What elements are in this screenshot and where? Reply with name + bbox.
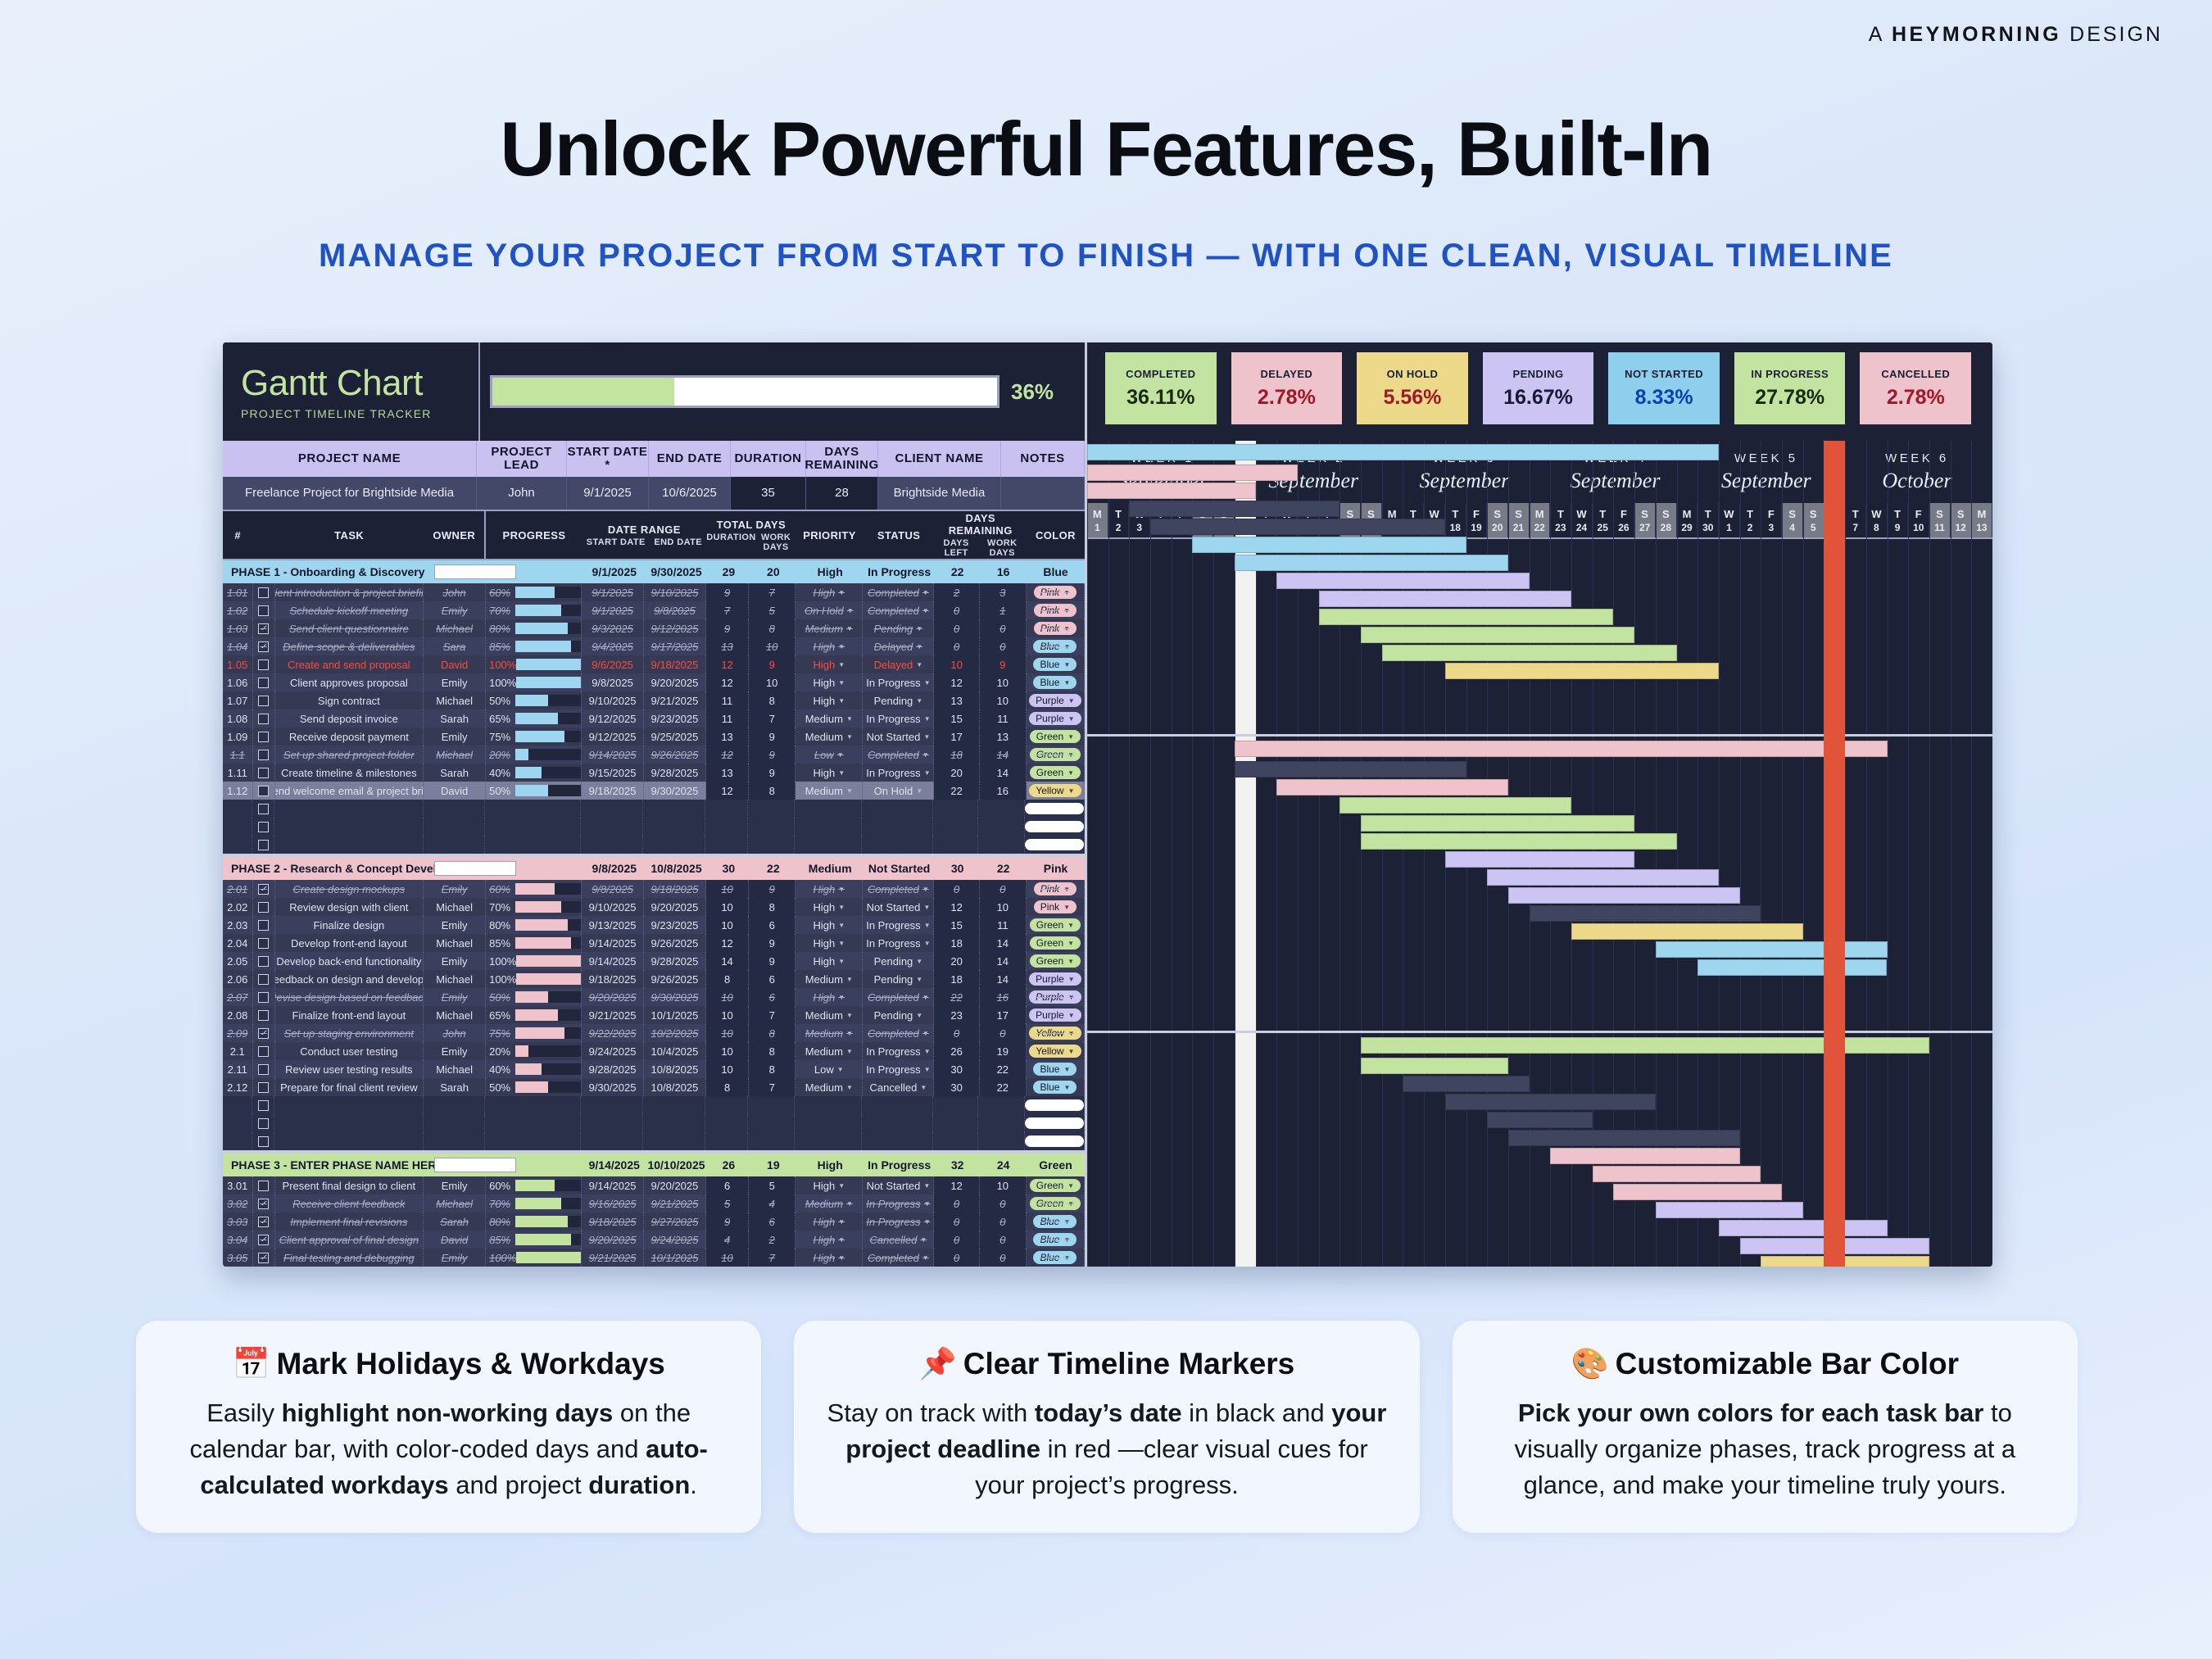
chevron-down-icon[interactable]: ▼ [838, 697, 845, 705]
chevron-down-icon[interactable]: ▼ [846, 1030, 853, 1037]
checkbox-icon[interactable]: ✓ [258, 641, 269, 652]
task-color[interactable]: Yellow▼ [1027, 1042, 1085, 1060]
empty-cell[interactable] [252, 1096, 274, 1114]
chevron-down-icon[interactable]: ▼ [1063, 661, 1070, 669]
empty-cell[interactable] [978, 800, 1025, 818]
task-color[interactable]: Blue▼ [1027, 1231, 1085, 1249]
task-checkbox[interactable] [253, 601, 275, 619]
task-color[interactable]: Green▼ [1027, 916, 1085, 934]
task-color-pill[interactable]: Green▼ [1030, 954, 1081, 968]
chevron-down-icon[interactable]: ▼ [1063, 1066, 1070, 1073]
task-row[interactable]: 1.12Send welcome email & project briefDa… [223, 782, 1085, 800]
task-status[interactable]: Completed▼ [863, 1024, 934, 1042]
task-color[interactable]: Pink▼ [1027, 601, 1085, 619]
task-priority[interactable]: High▼ [796, 1249, 863, 1267]
chevron-down-icon[interactable]: ▼ [916, 976, 922, 983]
task-checkbox[interactable] [253, 934, 275, 952]
empty-cell[interactable] [581, 1132, 643, 1150]
checkbox-icon[interactable] [258, 992, 269, 1003]
chevron-down-icon[interactable]: ▼ [838, 769, 845, 777]
chevron-down-icon[interactable]: ▼ [1063, 607, 1070, 614]
empty-cell[interactable] [795, 1096, 862, 1114]
empty-cell[interactable] [795, 1114, 862, 1132]
chevron-down-icon[interactable]: ▼ [1063, 643, 1070, 650]
checkbox-icon[interactable]: ✓ [258, 623, 269, 634]
task-checkbox[interactable]: ✓ [253, 1213, 275, 1231]
chevron-down-icon[interactable]: ▼ [1068, 697, 1075, 705]
task-progress[interactable]: 50% [486, 782, 582, 800]
empty-cell[interactable] [933, 1132, 978, 1150]
task-checkbox[interactable]: ✓ [253, 1231, 275, 1249]
task-color-pill[interactable]: Blue▼ [1033, 1251, 1077, 1264]
empty-cell[interactable] [1025, 818, 1085, 836]
task-color-pill[interactable]: Green▼ [1030, 1179, 1081, 1192]
task-color[interactable]: Green▼ [1027, 728, 1085, 746]
empty-cell[interactable] [581, 1096, 643, 1114]
task-progress[interactable]: 75% [486, 728, 582, 746]
chevron-down-icon[interactable]: ▼ [924, 1218, 931, 1226]
chevron-down-icon[interactable]: ▼ [838, 922, 845, 929]
task-color-pill[interactable]: Pink▼ [1034, 900, 1077, 913]
chevron-down-icon[interactable]: ▼ [1067, 769, 1074, 777]
task-checkbox[interactable]: ✓ [253, 880, 275, 898]
empty-cell[interactable] [252, 1114, 274, 1132]
task-priority[interactable]: Medium▼ [796, 728, 863, 746]
checkbox-icon[interactable] [258, 1136, 269, 1147]
task-progress[interactable]: 50% [486, 1078, 582, 1096]
task-checkbox[interactable] [253, 728, 275, 746]
task-color-pill[interactable]: Purple▼ [1029, 694, 1081, 707]
empty-cell[interactable] [274, 836, 423, 854]
task-color-pill[interactable]: Blue▼ [1033, 640, 1077, 653]
chevron-down-icon[interactable]: ▼ [1068, 787, 1075, 795]
task-row[interactable]: 2.04Develop front-end layoutMichael85%9/… [223, 934, 1085, 952]
chevron-down-icon[interactable]: ▼ [924, 715, 931, 723]
checkbox-icon[interactable] [258, 804, 269, 814]
task-checkbox[interactable]: ✓ [253, 1024, 275, 1042]
task-color[interactable]: Green▼ [1027, 746, 1085, 764]
task-priority[interactable]: Medium▼ [796, 1006, 863, 1024]
task-status[interactable]: Completed▼ [863, 601, 934, 619]
task-progress[interactable]: 70% [486, 1194, 582, 1213]
task-row[interactable]: 1.09Receive deposit paymentEmily75%9/12/… [223, 728, 1085, 746]
task-progress[interactable]: 50% [486, 691, 582, 709]
chevron-down-icon[interactable]: ▼ [920, 1084, 927, 1091]
empty-cell[interactable] [581, 1114, 643, 1132]
task-status[interactable]: In Progress▼ [863, 1194, 934, 1213]
chevron-down-icon[interactable]: ▼ [916, 787, 922, 795]
chevron-down-icon[interactable]: ▼ [837, 1066, 844, 1073]
task-row[interactable]: 1.05Create and send proposalDavid100%9/6… [223, 655, 1085, 673]
chevron-down-icon[interactable]: ▼ [924, 769, 931, 777]
task-row[interactable]: 3.01Present final design to clientEmily6… [223, 1176, 1085, 1194]
task-color[interactable]: Blue▼ [1027, 637, 1085, 655]
chevron-down-icon[interactable]: ▼ [1068, 715, 1075, 723]
empty-cell[interactable] [795, 836, 862, 854]
empty-cell[interactable] [1025, 1114, 1085, 1132]
task-checkbox[interactable] [253, 655, 275, 673]
task-progress[interactable]: 100% [486, 673, 582, 691]
task-status[interactable]: Cancelled▼ [863, 1231, 934, 1249]
task-color-pill[interactable]: Blue▼ [1033, 1215, 1077, 1228]
checkbox-icon[interactable] [258, 732, 269, 742]
chevron-down-icon[interactable]: ▼ [1067, 958, 1074, 965]
empty-cell[interactable] [748, 1114, 795, 1132]
empty-cell[interactable] [223, 1096, 252, 1114]
checkbox-icon[interactable] [258, 974, 269, 985]
task-checkbox[interactable] [253, 1006, 275, 1024]
empty-cell[interactable] [862, 800, 933, 818]
chevron-down-icon[interactable]: ▼ [922, 751, 929, 759]
empty-cell[interactable] [643, 1096, 705, 1114]
task-color-pill[interactable] [1025, 821, 1084, 832]
empty-cell[interactable] [485, 1114, 581, 1132]
task-progress[interactable]: 80% [486, 1213, 582, 1231]
empty-cell[interactable] [705, 800, 748, 818]
chevron-down-icon[interactable]: ▼ [846, 1200, 853, 1208]
task-color[interactable]: Purple▼ [1027, 1006, 1085, 1024]
chevron-down-icon[interactable]: ▼ [838, 1218, 845, 1226]
task-color-pill[interactable]: Green▼ [1030, 1197, 1081, 1210]
checkbox-icon[interactable] [258, 696, 269, 706]
empty-cell[interactable] [581, 818, 643, 836]
checkbox-icon[interactable] [258, 605, 269, 616]
checkbox-icon[interactable]: ✓ [258, 1217, 269, 1227]
task-status[interactable]: Pending▼ [863, 619, 934, 637]
empty-cell[interactable] [424, 800, 486, 818]
checkbox-icon[interactable] [258, 938, 269, 949]
chevron-down-icon[interactable]: ▼ [1068, 1012, 1075, 1019]
task-progress[interactable]: 80% [486, 619, 582, 637]
empty-cell[interactable] [424, 836, 486, 854]
task-row[interactable]: 3.03✓Implement final revisionsSarah80%9/… [223, 1213, 1085, 1231]
task-row[interactable]: 2.05Develop back-end functionalityEmily1… [223, 952, 1085, 970]
task-progress[interactable]: 65% [486, 1006, 582, 1024]
empty-cell[interactable] [1025, 1132, 1085, 1150]
task-priority[interactable]: High▼ [796, 898, 863, 916]
chevron-down-icon[interactable]: ▼ [838, 1254, 845, 1262]
checkbox-icon[interactable] [258, 786, 269, 796]
task-priority[interactable]: High▼ [796, 673, 863, 691]
empty-task-row[interactable] [223, 1114, 1085, 1132]
task-status[interactable]: Not Started▼ [863, 898, 934, 916]
chevron-down-icon[interactable]: ▼ [916, 643, 922, 650]
task-priority[interactable]: Medium▼ [796, 1078, 863, 1096]
task-status[interactable]: Pending▼ [863, 952, 934, 970]
task-checkbox[interactable] [253, 916, 275, 934]
task-color-pill[interactable]: Blue▼ [1033, 676, 1077, 689]
task-progress[interactable]: 60% [486, 880, 582, 898]
empty-cell[interactable] [643, 836, 705, 854]
task-priority[interactable]: High▼ [796, 952, 863, 970]
chevron-down-icon[interactable]: ▼ [838, 940, 845, 947]
empty-cell[interactable] [424, 1096, 486, 1114]
checkbox-icon[interactable] [258, 840, 269, 850]
empty-cell[interactable] [1025, 1096, 1085, 1114]
task-priority[interactable]: High▼ [796, 637, 863, 655]
task-row[interactable]: 2.1Conduct user testingEmily20%9/24/2025… [223, 1042, 1085, 1060]
empty-cell[interactable] [862, 836, 933, 854]
empty-cell[interactable] [705, 836, 748, 854]
empty-cell[interactable] [252, 818, 274, 836]
task-color[interactable]: Purple▼ [1027, 691, 1085, 709]
empty-cell[interactable] [485, 818, 581, 836]
empty-cell[interactable] [1025, 800, 1085, 818]
task-priority[interactable]: On Hold▼ [796, 601, 863, 619]
task-row[interactable]: 1.02Schedule kickoff meetingEmily70%9/1/… [223, 601, 1085, 619]
chevron-down-icon[interactable]: ▼ [838, 661, 845, 669]
chevron-down-icon[interactable]: ▼ [1067, 922, 1074, 929]
task-status[interactable]: Completed▼ [863, 746, 934, 764]
chevron-down-icon[interactable]: ▼ [1067, 733, 1074, 741]
task-checkbox[interactable] [253, 583, 275, 601]
empty-task-row[interactable] [223, 1132, 1085, 1150]
empty-cell[interactable] [862, 1114, 933, 1132]
task-status[interactable]: Cancelled▼ [863, 1078, 934, 1096]
task-row[interactable]: 1.08Send deposit invoiceSarah65%9/12/202… [223, 709, 1085, 728]
empty-cell[interactable] [485, 1096, 581, 1114]
chevron-down-icon[interactable]: ▼ [1067, 940, 1074, 947]
task-priority[interactable]: Medium▼ [796, 970, 863, 988]
empty-task-row[interactable] [223, 836, 1085, 854]
task-status[interactable]: In Progress▼ [863, 1213, 934, 1231]
task-progress[interactable]: 100% [486, 970, 582, 988]
task-color-pill[interactable]: Blue▼ [1033, 1233, 1077, 1246]
chevron-down-icon[interactable]: ▼ [922, 589, 929, 596]
task-color-pill[interactable]: Blue▼ [1033, 658, 1077, 671]
empty-cell[interactable] [252, 836, 274, 854]
chevron-down-icon[interactable]: ▼ [1063, 886, 1070, 893]
task-priority[interactable]: High▼ [796, 583, 863, 601]
task-color[interactable]: Blue▼ [1027, 673, 1085, 691]
chevron-down-icon[interactable]: ▼ [1063, 1218, 1070, 1226]
task-color-pill[interactable]: Green▼ [1030, 748, 1081, 761]
task-color-pill[interactable]: Blue▼ [1033, 1063, 1077, 1076]
chevron-down-icon[interactable]: ▼ [846, 715, 853, 723]
chevron-down-icon[interactable]: ▼ [924, 1048, 931, 1055]
chevron-down-icon[interactable]: ▼ [1067, 1200, 1074, 1208]
task-progress[interactable]: 70% [486, 898, 582, 916]
empty-cell[interactable] [748, 836, 795, 854]
chevron-down-icon[interactable]: ▼ [922, 607, 929, 614]
task-progress[interactable]: 85% [486, 1231, 582, 1249]
chevron-down-icon[interactable]: ▼ [838, 994, 845, 1001]
empty-cell[interactable] [274, 1132, 423, 1150]
chevron-down-icon[interactable]: ▼ [838, 886, 845, 893]
checkbox-icon[interactable] [258, 956, 269, 967]
task-color-pill[interactable]: Purple▼ [1029, 1009, 1081, 1022]
chevron-down-icon[interactable]: ▼ [1068, 1030, 1075, 1037]
empty-cell[interactable] [424, 818, 486, 836]
task-color[interactable]: Blue▼ [1027, 1060, 1085, 1078]
chevron-down-icon[interactable]: ▼ [916, 625, 922, 632]
empty-cell[interactable] [274, 1096, 423, 1114]
checkbox-icon[interactable] [258, 1046, 269, 1057]
checkbox-icon[interactable] [258, 822, 269, 832]
checkbox-icon[interactable]: ✓ [258, 1253, 269, 1263]
chevron-down-icon[interactable]: ▼ [846, 733, 853, 741]
task-color-pill[interactable]: Green▼ [1030, 730, 1081, 743]
task-priority[interactable]: Medium▼ [796, 709, 863, 728]
checkbox-icon[interactable] [258, 1082, 269, 1093]
task-color-pill[interactable] [1025, 839, 1084, 850]
task-row[interactable]: 2.03Finalize designEmily80%9/13/20259/23… [223, 916, 1085, 934]
task-priority[interactable]: High▼ [796, 691, 863, 709]
task-priority[interactable]: High▼ [796, 880, 863, 898]
task-priority[interactable]: High▼ [796, 988, 863, 1006]
task-progress[interactable]: 85% [486, 934, 582, 952]
task-color[interactable]: Yellow▼ [1027, 782, 1085, 800]
checkbox-icon[interactable] [258, 587, 269, 598]
empty-cell[interactable] [643, 818, 705, 836]
chevron-down-icon[interactable]: ▼ [846, 976, 853, 983]
task-checkbox[interactable] [253, 970, 275, 988]
task-progress[interactable]: 75% [486, 1024, 582, 1042]
task-color-pill[interactable] [1025, 1135, 1084, 1147]
task-row[interactable]: 2.08Finalize front-end layoutMichael65%9… [223, 1006, 1085, 1024]
empty-task-row[interactable] [223, 800, 1085, 818]
empty-cell[interactable] [705, 1114, 748, 1132]
empty-cell[interactable] [862, 1132, 933, 1150]
empty-cell[interactable] [933, 1096, 978, 1114]
task-progress[interactable]: 60% [486, 583, 582, 601]
task-progress[interactable]: 70% [486, 601, 582, 619]
chevron-down-icon[interactable]: ▼ [924, 679, 931, 687]
task-row[interactable]: 1.07Sign contractMichael50%9/10/20259/21… [223, 691, 1085, 709]
task-progress[interactable]: 65% [486, 709, 582, 728]
empty-cell[interactable] [748, 1096, 795, 1114]
empty-cell[interactable] [862, 1096, 933, 1114]
empty-cell[interactable] [933, 1114, 978, 1132]
checkbox-icon[interactable] [258, 768, 269, 778]
task-priority[interactable]: Medium▼ [796, 1042, 863, 1060]
task-status[interactable]: Not Started▼ [863, 728, 934, 746]
task-checkbox[interactable] [253, 1042, 275, 1060]
task-status[interactable]: Completed▼ [863, 583, 934, 601]
chevron-down-icon[interactable]: ▼ [922, 1254, 929, 1262]
task-status[interactable]: Pending▼ [863, 691, 934, 709]
task-color[interactable]: Pink▼ [1027, 880, 1085, 898]
task-priority[interactable]: Medium▼ [796, 1194, 863, 1213]
task-color[interactable]: Pink▼ [1027, 583, 1085, 601]
chevron-down-icon[interactable]: ▼ [1068, 994, 1075, 1001]
checkbox-icon[interactable] [258, 1118, 269, 1129]
task-color-pill[interactable] [1025, 1099, 1084, 1111]
empty-cell[interactable] [223, 836, 252, 854]
task-status[interactable]: Delayed▼ [863, 655, 934, 673]
empty-cell[interactable] [933, 836, 978, 854]
task-color[interactable]: Pink▼ [1027, 619, 1085, 637]
chevron-down-icon[interactable]: ▼ [1063, 679, 1070, 687]
empty-cell[interactable] [862, 818, 933, 836]
task-row[interactable]: 2.12Prepare for final client reviewSarah… [223, 1078, 1085, 1096]
task-row[interactable]: 3.02✓Receive client feedbackMichael70%9/… [223, 1194, 1085, 1213]
chevron-down-icon[interactable]: ▼ [1063, 589, 1070, 596]
task-color-pill[interactable]: Pink▼ [1034, 604, 1077, 617]
task-priority[interactable]: High▼ [796, 764, 863, 782]
task-checkbox[interactable]: ✓ [253, 1194, 275, 1213]
chevron-down-icon[interactable]: ▼ [838, 679, 845, 687]
task-status[interactable]: In Progress▼ [863, 764, 934, 782]
task-color-pill[interactable]: Pink▼ [1034, 586, 1077, 599]
empty-cell[interactable] [748, 800, 795, 818]
task-checkbox[interactable] [253, 764, 275, 782]
task-row[interactable]: 1.01Client introduction & project briefi… [223, 583, 1085, 601]
chevron-down-icon[interactable]: ▼ [1063, 1084, 1070, 1091]
empty-task-row[interactable] [223, 818, 1085, 836]
checkbox-icon[interactable]: ✓ [258, 884, 269, 895]
empty-cell[interactable] [978, 836, 1025, 854]
task-checkbox[interactable] [253, 746, 275, 764]
task-priority[interactable]: High▼ [796, 1176, 863, 1194]
chevron-down-icon[interactable]: ▼ [837, 751, 844, 759]
task-row[interactable]: 1.04✓Define scope & deliverablesSara85%9… [223, 637, 1085, 655]
task-priority[interactable]: Medium▼ [796, 1024, 863, 1042]
task-color[interactable]: Blue▼ [1027, 655, 1085, 673]
task-status[interactable]: In Progress▼ [863, 916, 934, 934]
chevron-down-icon[interactable]: ▼ [846, 1012, 853, 1019]
task-checkbox[interactable]: ✓ [253, 619, 275, 637]
chevron-down-icon[interactable]: ▼ [838, 958, 845, 965]
chevron-down-icon[interactable]: ▼ [846, 625, 853, 632]
empty-cell[interactable] [978, 1096, 1025, 1114]
chevron-down-icon[interactable]: ▼ [1063, 904, 1070, 911]
empty-cell[interactable] [795, 1132, 862, 1150]
task-color-pill[interactable]: Pink▼ [1034, 622, 1077, 635]
task-color[interactable]: Purple▼ [1027, 988, 1085, 1006]
empty-cell[interactable] [748, 818, 795, 836]
empty-cell[interactable] [978, 1132, 1025, 1150]
empty-cell[interactable] [795, 818, 862, 836]
checkbox-icon[interactable] [258, 1010, 269, 1021]
task-row[interactable]: 1.11Create timeline & milestonesSarah40%… [223, 764, 1085, 782]
task-progress[interactable]: 20% [486, 746, 582, 764]
task-status[interactable]: Completed▼ [863, 880, 934, 898]
empty-cell[interactable] [274, 818, 423, 836]
task-row[interactable]: 2.06Get feedback on design and developme… [223, 970, 1085, 988]
task-color[interactable]: Green▼ [1027, 1194, 1085, 1213]
task-status[interactable]: Pending▼ [863, 970, 934, 988]
chevron-down-icon[interactable]: ▼ [922, 886, 929, 893]
chevron-down-icon[interactable]: ▼ [1067, 751, 1074, 759]
task-checkbox[interactable]: ✓ [253, 1249, 275, 1267]
task-priority[interactable]: Low▼ [796, 1060, 863, 1078]
checkbox-icon[interactable] [258, 678, 269, 688]
task-priority[interactable]: High▼ [796, 655, 863, 673]
chevron-down-icon[interactable]: ▼ [922, 994, 929, 1001]
empty-cell[interactable] [274, 800, 423, 818]
checkbox-icon[interactable] [258, 750, 269, 760]
task-status[interactable]: In Progress▼ [863, 934, 934, 952]
task-color[interactable]: Purple▼ [1027, 709, 1085, 728]
chevron-down-icon[interactable]: ▼ [916, 697, 922, 705]
task-priority[interactable]: High▼ [796, 916, 863, 934]
empty-cell[interactable] [978, 1114, 1025, 1132]
task-row[interactable]: 1.1Set up shared project folderMichael20… [223, 746, 1085, 764]
task-status[interactable]: On Hold▼ [863, 782, 934, 800]
task-checkbox[interactable] [253, 988, 275, 1006]
empty-cell[interactable] [223, 1132, 252, 1150]
task-row[interactable]: 3.05✓Final testing and debuggingEmily100… [223, 1249, 1085, 1267]
task-checkbox[interactable] [253, 1060, 275, 1078]
task-color-pill[interactable] [1025, 803, 1084, 814]
task-checkbox[interactable] [253, 1176, 275, 1194]
chevron-down-icon[interactable]: ▼ [1063, 1236, 1070, 1244]
task-progress[interactable]: 60% [486, 1176, 582, 1194]
task-row[interactable]: 2.02Review design with clientMichael70%9… [223, 898, 1085, 916]
checkbox-icon[interactable] [258, 902, 269, 913]
task-checkbox[interactable] [253, 709, 275, 728]
